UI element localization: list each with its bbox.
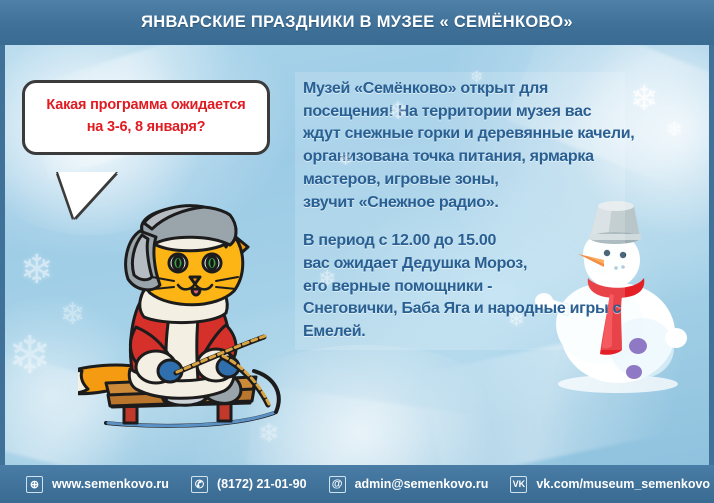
footer-item-website[interactable]: ⊕ www.semenkovo.ru: [26, 476, 169, 493]
body-line: мастеров, игровые зоны,: [303, 169, 617, 192]
cat-on-sled-illustration: [78, 195, 308, 440]
header-bar: ЯНВАРСКИЕ ПРАЗДНИКИ В МУЗЕЕ « СЕМЁНКОВО»: [0, 0, 714, 45]
vk-icon: VK: [510, 476, 527, 493]
body-line: организована точка питания, ярмарка: [303, 146, 617, 169]
speech-bubble-line-1: Какая программа ожидается: [35, 95, 257, 117]
main-text-panel: Музей «Семёнково» открыт для посещения! …: [295, 72, 625, 350]
body-line: ждут снежные горки и деревянные качели,: [303, 123, 617, 146]
footer-bar: ⊕ www.semenkovo.ru ✆ (8172) 21-01-90 @ a…: [0, 465, 714, 503]
globe-icon: ⊕: [26, 476, 43, 493]
paragraph-spacer: [303, 214, 617, 230]
body-line: посещения! На территории музея вас: [303, 101, 617, 124]
phone-label: (8172) 21-01-90: [217, 477, 307, 491]
email-icon: @: [329, 476, 346, 493]
poster: ЯНВАРСКИЕ ПРАЗДНИКИ В МУЗЕЕ « СЕМЁНКОВО»…: [0, 0, 714, 503]
body-line: Емелей.: [303, 321, 617, 344]
phone-icon: ✆: [191, 476, 208, 493]
footer-item-vk[interactable]: VK vk.com/museum_semenkovo: [510, 476, 710, 493]
body-line: его верные помощники -: [303, 276, 617, 299]
body-line: Снеговички, Баба Яга и народные игры с: [303, 298, 617, 321]
website-label[interactable]: www.semenkovo.ru: [52, 477, 169, 491]
body-line: Музей «Семёнково» открыт для: [303, 78, 617, 101]
footer-item-email[interactable]: @ admin@semenkovo.ru: [329, 476, 489, 493]
email-label[interactable]: admin@semenkovo.ru: [355, 477, 489, 491]
speech-bubble: Какая программа ожидается на 3-6, 8 янва…: [22, 80, 270, 155]
page-title: ЯНВАРСКИЕ ПРАЗДНИКИ В МУЗЕЕ « СЕМЁНКОВО»: [141, 13, 573, 32]
body-line: вас ожидает Дедушка Мороз,: [303, 253, 617, 276]
vk-label[interactable]: vk.com/museum_semenkovo: [536, 477, 710, 491]
body-line: В период с 12.00 до 15.00: [303, 230, 617, 253]
speech-bubble-line-2: на 3-6, 8 января?: [35, 117, 257, 139]
body-line: звучит «Снежное радио».: [303, 192, 617, 215]
footer-item-phone[interactable]: ✆ (8172) 21-01-90: [191, 476, 307, 493]
